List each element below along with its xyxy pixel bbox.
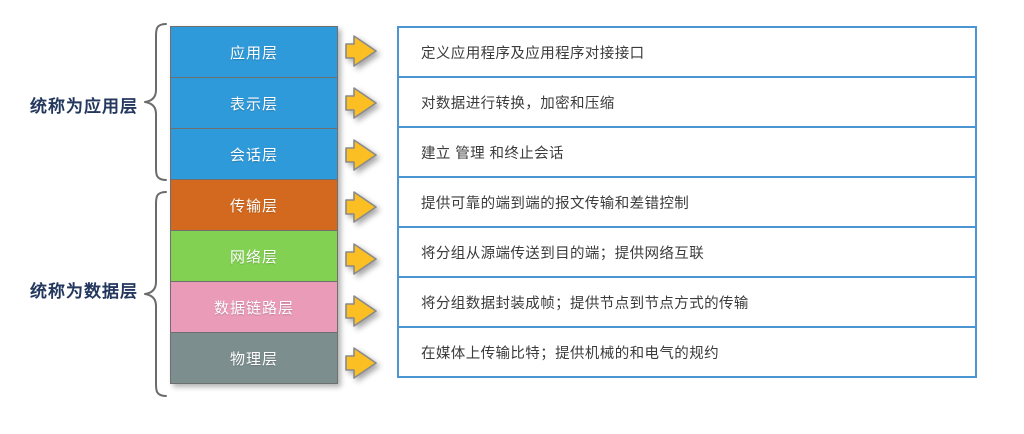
right-arrow-icon [344, 182, 392, 234]
layer-stack: 应用层 表示层 会话层 传输层 网络层 数据链路层 物理层 [170, 26, 338, 384]
description-box-network[interactable]: 将分组从源端传送到目的端；提供网络互联 [397, 226, 977, 278]
layer-block-session[interactable]: 会话层 [170, 128, 338, 180]
osi-model-diagram: 统称为应用层 统称为数据层 应用层 表示层 会话层 传输层 网络层 数据 [0, 0, 1024, 434]
layer-label: 数据链路层 [214, 297, 294, 318]
description-text: 建立 管理 和终止会话 [421, 142, 564, 163]
right-arrow-icon [344, 78, 392, 130]
description-box-presentation[interactable]: 对数据进行转换，加密和压缩 [397, 76, 977, 128]
layer-label: 应用层 [230, 42, 278, 63]
layer-block-physical[interactable]: 物理层 [170, 332, 338, 384]
layer-block-data-link[interactable]: 数据链路层 [170, 281, 338, 333]
description-text: 在媒体上传输比特；提供机械的和电气的规约 [421, 342, 719, 363]
brace-data-group [142, 190, 168, 403]
group-label-data: 统称为数据层 [18, 277, 138, 302]
right-arrow-icon [344, 338, 392, 390]
description-text: 将分组数据封装成帧；提供节点到节点方式的传输 [421, 292, 749, 313]
description-box-session[interactable]: 建立 管理 和终止会话 [397, 126, 977, 178]
layer-label: 网络层 [230, 246, 278, 267]
description-stack: 定义应用程序及应用程序对接接口 对数据进行转换，加密和压缩 建立 管理 和终止会… [397, 26, 977, 378]
layer-block-network[interactable]: 网络层 [170, 230, 338, 282]
description-box-application[interactable]: 定义应用程序及应用程序对接接口 [397, 26, 977, 78]
description-text: 提供可靠的端到端的报文传输和差错控制 [421, 192, 689, 213]
layer-block-application[interactable]: 应用层 [170, 26, 338, 78]
description-text: 定义应用程序及应用程序对接接口 [421, 42, 645, 63]
layer-block-presentation[interactable]: 表示层 [170, 77, 338, 129]
right-arrow-icon [344, 286, 392, 338]
brace-application-group [142, 22, 168, 187]
description-text: 对数据进行转换，加密和压缩 [421, 92, 615, 113]
layer-block-transport[interactable]: 传输层 [170, 179, 338, 231]
description-box-data-link[interactable]: 将分组数据封装成帧；提供节点到节点方式的传输 [397, 276, 977, 328]
description-box-transport[interactable]: 提供可靠的端到端的报文传输和差错控制 [397, 176, 977, 228]
layer-label: 会话层 [230, 144, 278, 165]
description-box-physical[interactable]: 在媒体上传输比特；提供机械的和电气的规约 [397, 326, 977, 378]
description-text: 将分组从源端传送到目的端；提供网络互联 [421, 242, 704, 263]
right-arrow-icon [344, 26, 392, 78]
group-label-application: 统称为应用层 [18, 92, 138, 117]
layer-label: 物理层 [230, 348, 278, 369]
right-arrow-icon [344, 130, 392, 182]
right-arrow-icon [344, 234, 392, 286]
layer-label: 传输层 [230, 195, 278, 216]
layer-label: 表示层 [230, 93, 278, 114]
